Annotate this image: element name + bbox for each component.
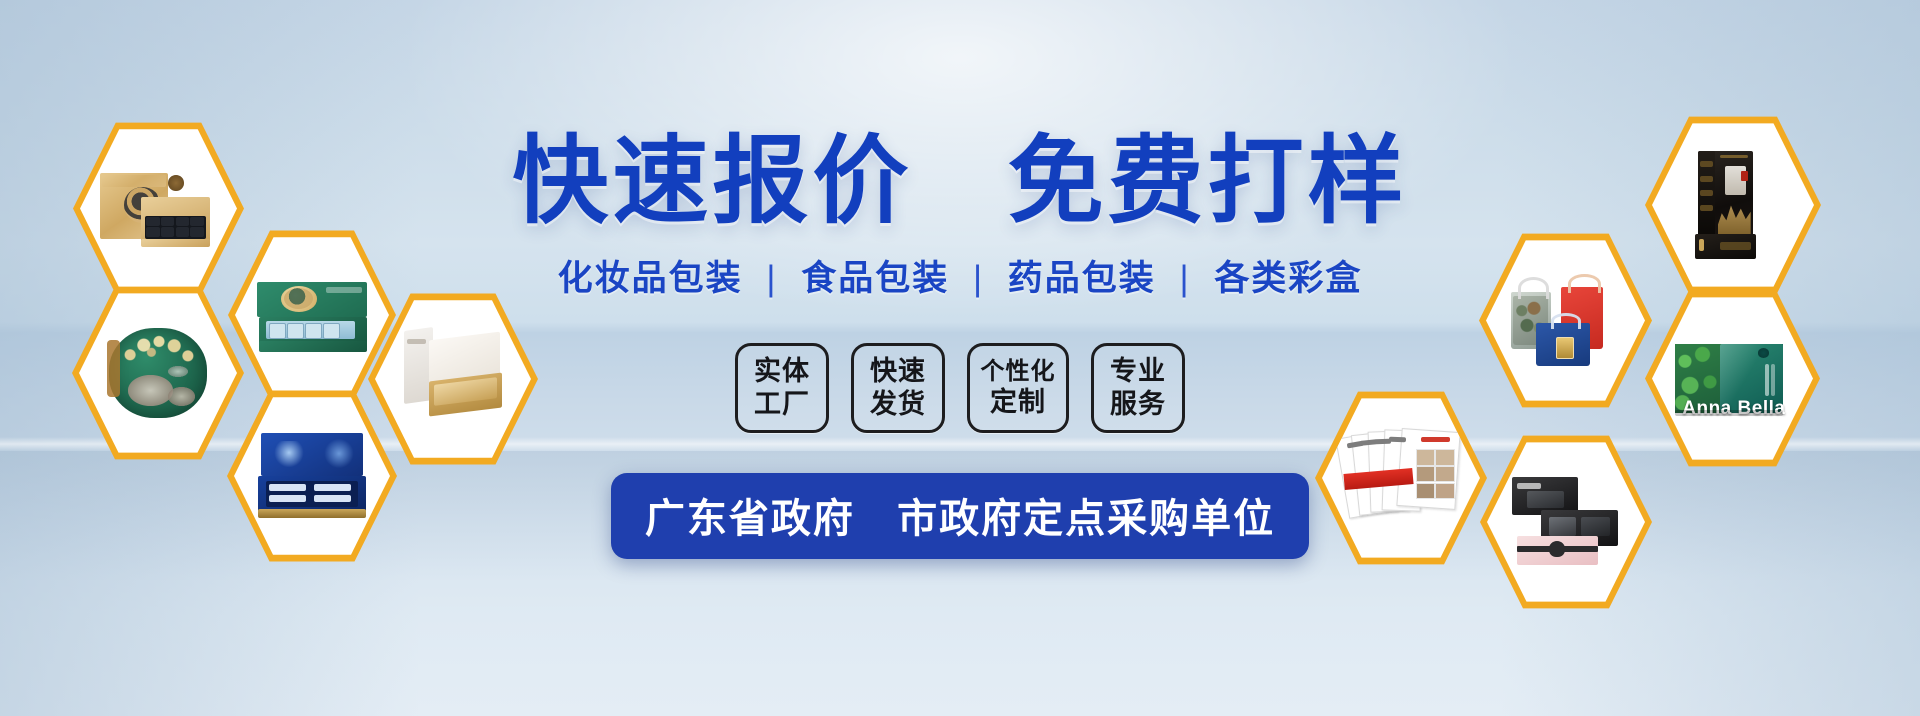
feature-badge-factory-line1: 实体 xyxy=(754,355,810,388)
hex-inner xyxy=(80,126,237,291)
subline-separator-1: | xyxy=(766,259,777,298)
feature-badge-customization-line2: 定制 xyxy=(990,386,1046,419)
product-image-green-round-mooncake-box xyxy=(96,313,219,433)
subline-separator-3: | xyxy=(1180,259,1191,298)
feature-badge-service-line1: 专业 xyxy=(1110,355,1166,388)
headline: 快速报价 免费打样 xyxy=(512,132,1407,232)
hex-inner xyxy=(1322,395,1480,561)
headline-part-2: 免费打样 xyxy=(1008,128,1408,235)
subline-item-2: 食品包装 xyxy=(801,259,949,298)
hex-inner xyxy=(1487,439,1645,605)
subline-item-1: 化妆品包装 xyxy=(558,259,743,298)
government-supplier-badge[interactable]: 广东省政府 市政府定点采购单位 xyxy=(611,473,1309,559)
product-image-gold-flip-box xyxy=(392,320,514,438)
feature-badge-list: 实体 工厂 快速 发货 个性化 定制 专业 服务 xyxy=(735,343,1185,433)
feature-badge-factory[interactable]: 实体 工厂 xyxy=(735,343,829,433)
hex-tile-blue-gift-box[interactable] xyxy=(227,387,397,565)
hex-inner xyxy=(234,394,390,558)
product-image-cosmetics-case-dark xyxy=(1504,462,1627,582)
product-image-paper-shopping-bags xyxy=(1503,260,1627,380)
feature-badge-service[interactable]: 专业 服务 xyxy=(1091,343,1185,433)
subline-item-4: 各类彩盒 xyxy=(1214,259,1362,298)
product-image-catalog-brochures xyxy=(1339,418,1462,538)
hex-inner xyxy=(1652,120,1814,290)
product-image-green-tea-gift-box xyxy=(252,257,372,374)
hex-tile-green-round-mooncake-box[interactable] xyxy=(72,283,244,463)
subline-item-3: 药品包装 xyxy=(1008,259,1156,298)
pill-part-1: 广东省政府 xyxy=(645,497,855,541)
headline-part-1: 快速报价 xyxy=(512,128,912,235)
hex-tile-catalog-brochures[interactable] xyxy=(1315,388,1487,568)
hex-tile-paper-shopping-bags[interactable] xyxy=(1479,230,1652,411)
feature-badge-customization-line1: 个性化 xyxy=(981,357,1056,386)
subline-separator-2: | xyxy=(973,259,984,298)
product-image-blue-gift-box xyxy=(251,417,373,535)
pill-part-2: 市政府定点采购单位 xyxy=(897,497,1275,541)
hex-tile-dark-liquor-box[interactable] xyxy=(1645,113,1821,297)
hex-inner: Anna Bella xyxy=(1652,294,1813,463)
feature-badge-customization[interactable]: 个性化 定制 xyxy=(967,343,1069,433)
product-image-dark-liquor-box xyxy=(1670,144,1796,266)
feature-badge-fast-shipping-line1: 快速 xyxy=(870,355,926,388)
hex-tile-anna-bella-box[interactable]: Anna Bella xyxy=(1645,287,1820,470)
hex-inner xyxy=(79,290,237,456)
anna-bella-brand-text: Anna Bella xyxy=(1682,398,1785,420)
promo-banner: 快速报价 免费打样 化妆品包装 | 食品包装 | 药品包装 | 各类彩盒 实体 … xyxy=(0,0,1920,716)
subline: 化妆品包装 | 食品包装 | 药品包装 | 各类彩盒 xyxy=(558,250,1363,301)
feature-badge-factory-line2: 工厂 xyxy=(754,388,810,421)
hex-inner xyxy=(1486,237,1645,404)
feature-badge-service-line2: 服务 xyxy=(1110,388,1166,421)
product-image-anna-bella-box: Anna Bella xyxy=(1670,318,1796,440)
feature-badge-fast-shipping-line2: 发货 xyxy=(870,388,926,421)
hex-inner xyxy=(235,234,389,396)
hex-inner xyxy=(375,297,531,461)
product-image-gold-gift-box-set xyxy=(97,149,219,268)
feature-badge-fast-shipping[interactable]: 快速 发货 xyxy=(851,343,945,433)
hex-tile-cosmetics-case-dark[interactable] xyxy=(1480,432,1652,612)
hex-tile-gold-gift-box-set[interactable] xyxy=(73,119,244,298)
